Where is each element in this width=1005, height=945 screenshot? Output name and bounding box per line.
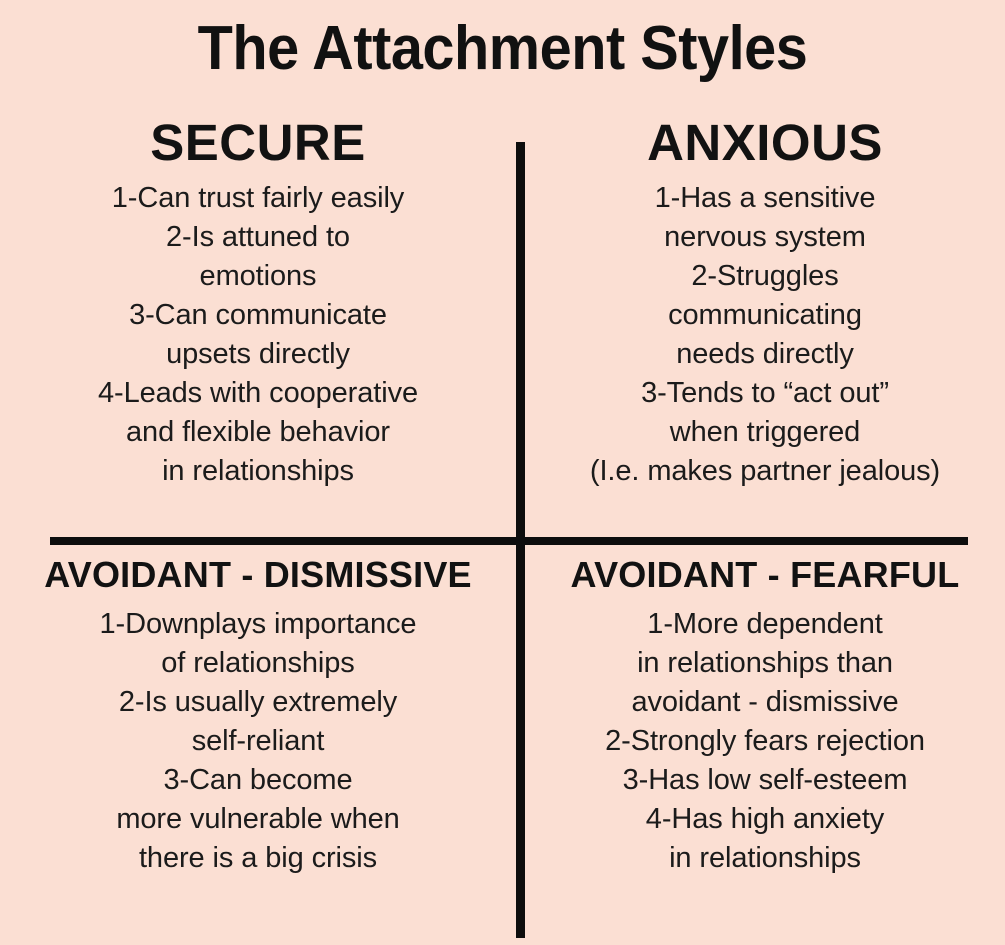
quadrant-secure-body: 1-Can trust fairly easily 2-Is attuned t… xyxy=(88,179,428,491)
list-item: 4-Has high anxiety xyxy=(605,800,925,839)
attachment-styles-poster: The Attachment Styles SECURE 1-Can trust… xyxy=(0,0,1005,945)
list-item: communicating xyxy=(590,296,940,335)
list-item: 2-Is usually extremely xyxy=(100,683,417,722)
list-item: 1-Has a sensitive xyxy=(590,179,940,218)
page-title: The Attachment Styles xyxy=(35,8,970,90)
list-item: 4-Leads with cooperative xyxy=(98,374,418,413)
quadrant-avoidant-fearful-heading: AVOIDANT - FEARFUL xyxy=(571,556,960,593)
quadrant-secure: SECURE 1-Can trust fairly easily 2-Is at… xyxy=(0,112,516,537)
list-item: self-reliant xyxy=(100,722,417,761)
quadrant-avoidant-dismissive-body: 1-Downplays importance of relationships … xyxy=(90,605,427,878)
list-item: upsets directly xyxy=(98,335,418,374)
list-item: 1-More dependent xyxy=(605,605,925,644)
horizontal-divider xyxy=(50,537,968,545)
list-item: 2-Strongly fears rejection xyxy=(605,722,925,761)
list-item: in relationships xyxy=(98,452,418,491)
list-item: 2-Is attuned to xyxy=(98,218,418,257)
list-item: more vulnerable when xyxy=(100,800,417,839)
list-item: 3-Has low self-esteem xyxy=(605,761,925,800)
list-item: 3-Tends to “act out” xyxy=(590,374,940,413)
list-item: 3-Can become xyxy=(100,761,417,800)
quadrant-anxious-body: 1-Has a sensitive nervous system 2-Strug… xyxy=(580,179,950,491)
list-item: in relationships than xyxy=(605,644,925,683)
list-item: when triggered xyxy=(590,413,940,452)
list-item: of relationships xyxy=(100,644,417,683)
quadrant-avoidant-dismissive: AVOIDANT - DISMISSIVE 1-Downplays import… xyxy=(0,556,516,945)
list-item: emotions xyxy=(98,257,418,296)
list-item: in relationships xyxy=(605,839,925,878)
list-item: there is a big crisis xyxy=(100,839,417,878)
quadrant-anxious: ANXIOUS 1-Has a sensitive nervous system… xyxy=(525,112,1005,537)
quadrant-anxious-heading: ANXIOUS xyxy=(647,116,883,169)
list-item: needs directly xyxy=(590,335,940,374)
list-item: 3-Can communicate xyxy=(98,296,418,335)
list-item: (I.e. makes partner jealous) xyxy=(590,452,940,491)
list-item: nervous system xyxy=(590,218,940,257)
quadrant-avoidant-dismissive-heading: AVOIDANT - DISMISSIVE xyxy=(44,556,472,593)
list-item: 1-Downplays importance xyxy=(100,605,417,644)
quadrant-secure-heading: SECURE xyxy=(150,116,366,169)
list-item: 2-Struggles xyxy=(590,257,940,296)
list-item: avoidant - dismissive xyxy=(605,683,925,722)
quadrant-avoidant-fearful-body: 1-More dependent in relationships than a… xyxy=(595,605,935,878)
list-item: 1-Can trust fairly easily xyxy=(98,179,418,218)
list-item: and flexible behavior xyxy=(98,413,418,452)
quadrant-avoidant-fearful: AVOIDANT - FEARFUL 1-More dependent in r… xyxy=(525,556,1005,945)
